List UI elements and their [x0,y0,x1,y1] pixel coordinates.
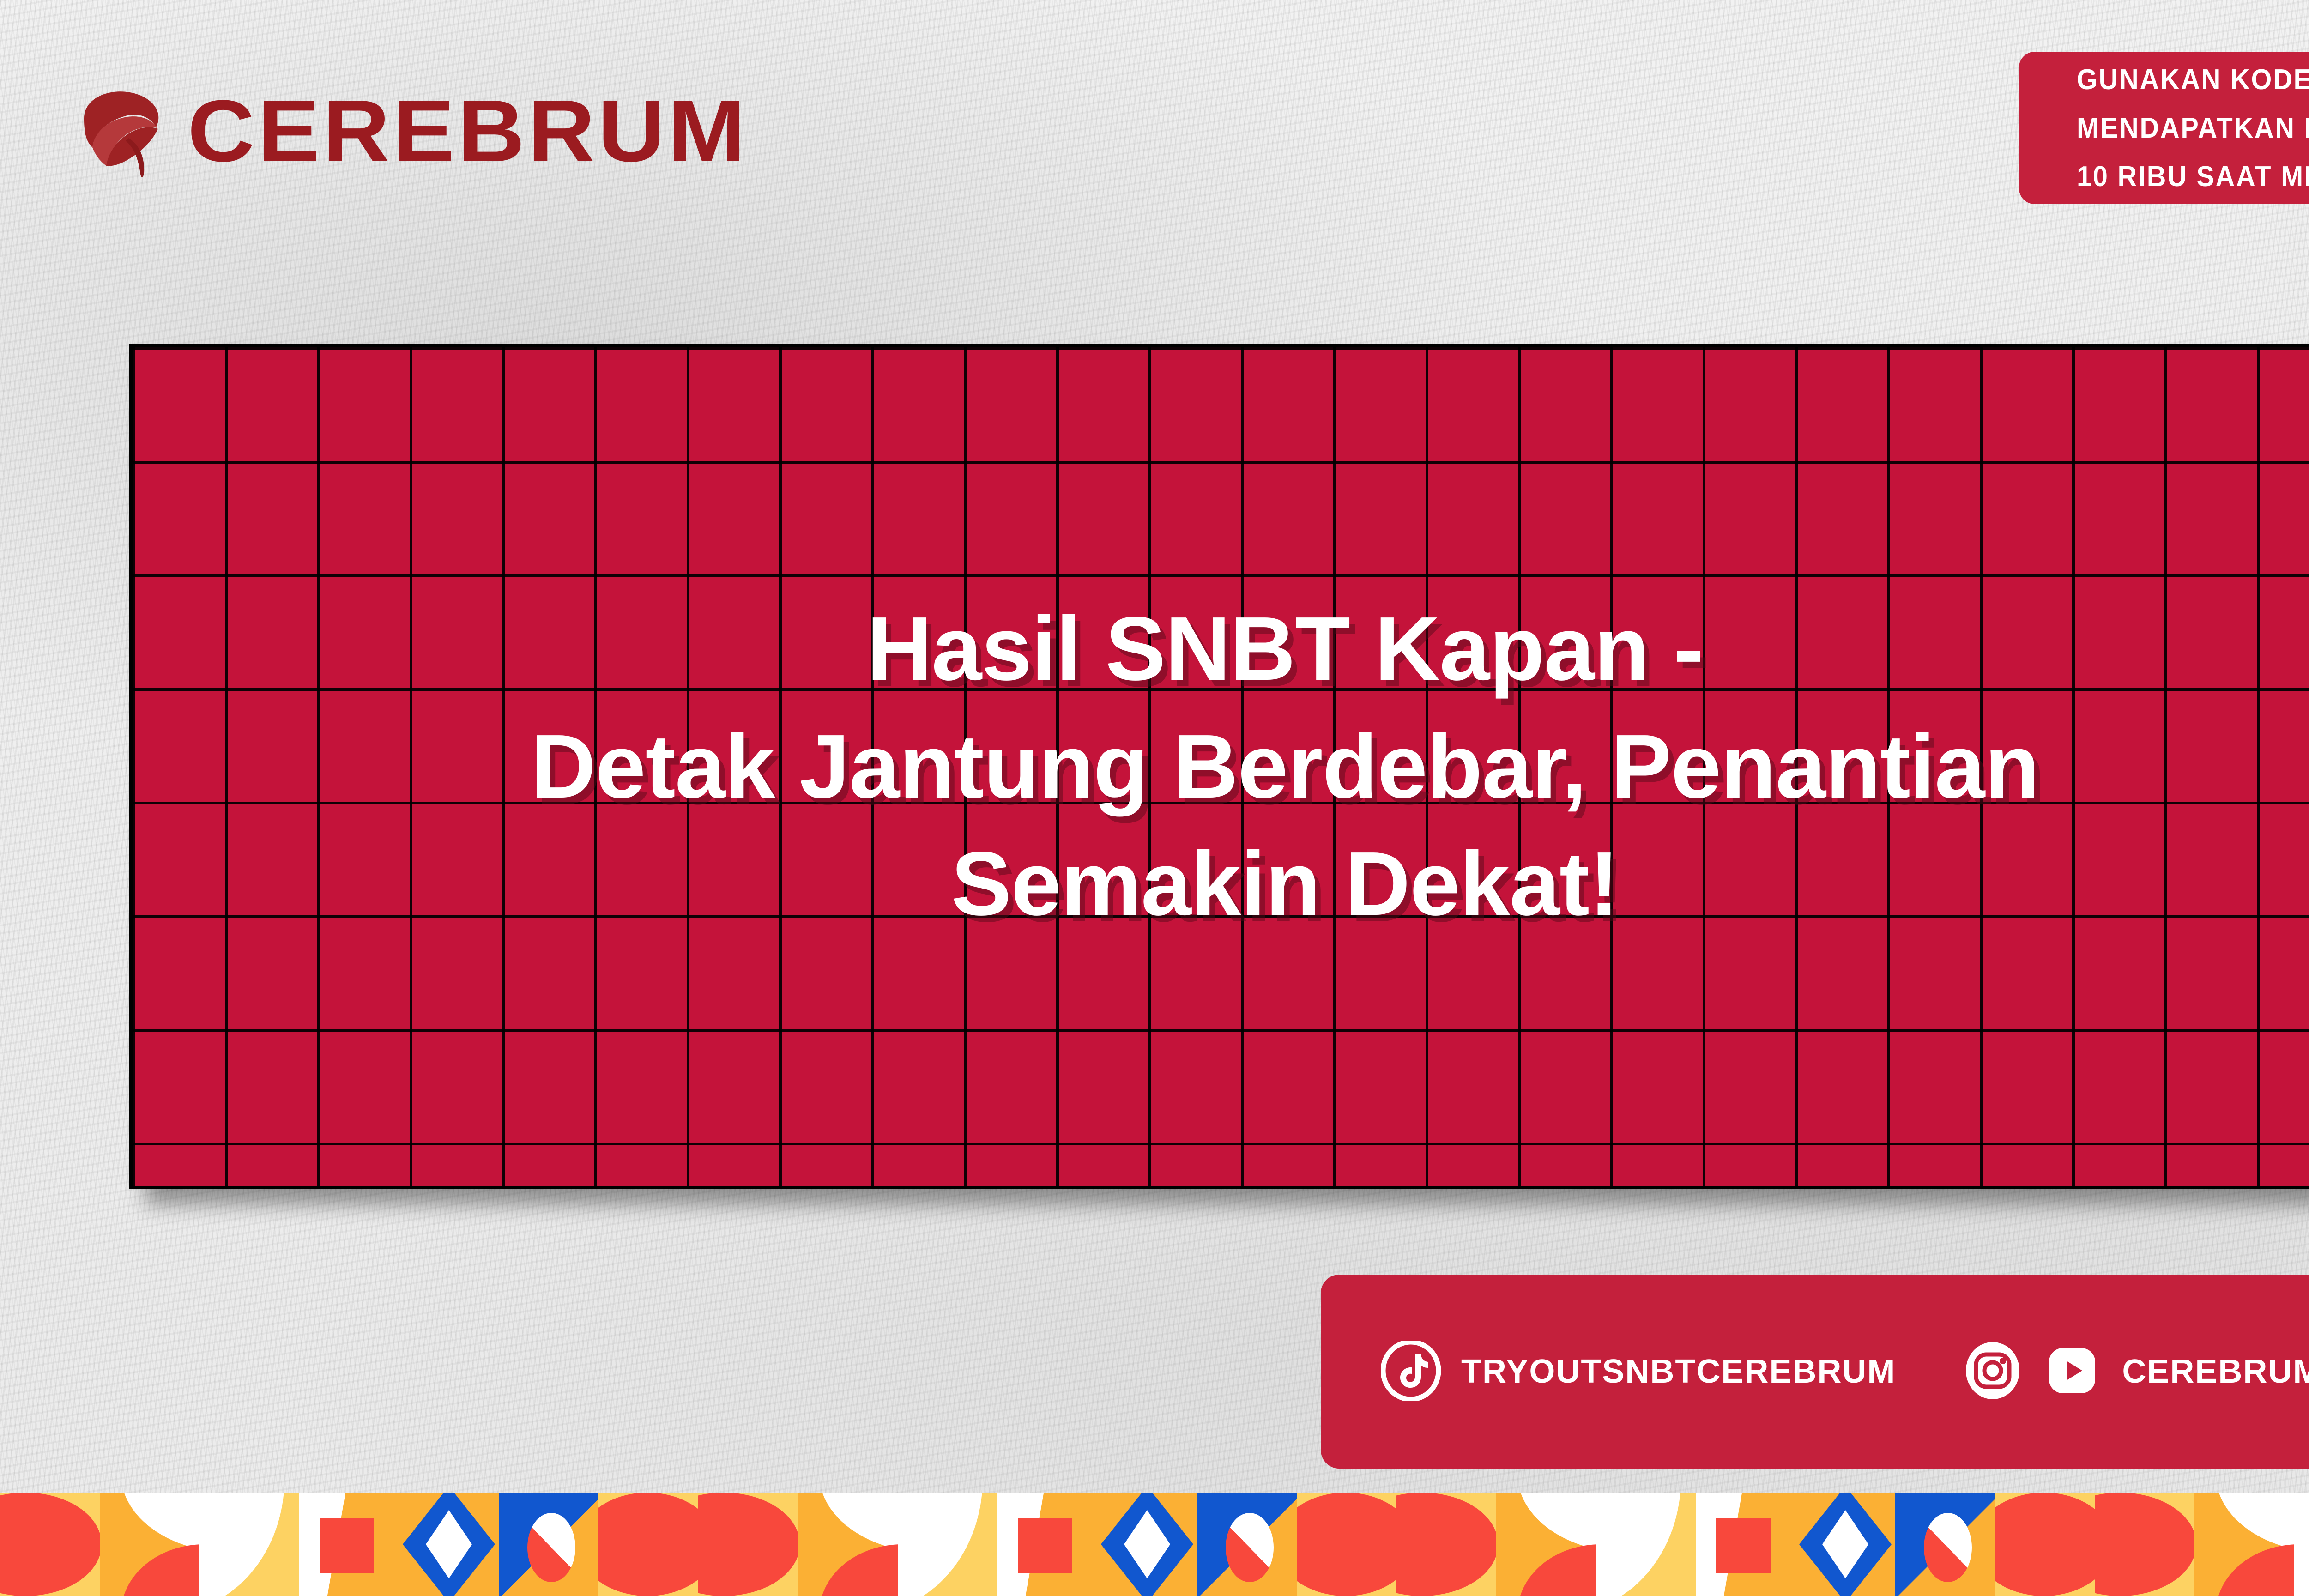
pattern-tile [1396,1493,1496,1596]
pattern-tile [1895,1493,1995,1596]
pattern-tile [2095,1493,2194,1596]
pattern-tile [1097,1493,1197,1596]
promo-line-2: MENDAPATKAN POTONGAN MULAI [2077,112,2309,145]
pattern-tile [0,1493,100,1596]
pattern-tile [499,1493,598,1596]
pattern-tile [997,1493,1097,1596]
promo-line-3: 10 RIBU SAAT MEMBELI PAKET [2077,160,2309,193]
pattern-tile [1496,1493,1596,1596]
promo-text: GUNAKAN KODE PROMO INI UNTUK MENDAPATKAN… [2019,63,2309,193]
promo-line-1: GUNAKAN KODE PROMO INI UNTUK [2077,63,2309,96]
cerebrum-brain-swoosh-logo [74,83,166,180]
pattern-tile [399,1493,499,1596]
pattern-tile [898,1493,997,1596]
pattern-tile [1596,1493,1696,1596]
pattern-tile [1795,1493,1895,1596]
brand-logo[interactable]: CEREBRUM [74,81,717,181]
headline-line-3: Semakin Dekat! [951,827,1619,941]
headline-text: Hasil SNBT Kapan - Detak Jantung Berdeba… [133,347,2309,1186]
decorative-pattern-strip [0,1493,2309,1596]
pattern-tile [100,1493,199,1596]
tiktok-icon[interactable] [1381,1341,1441,1403]
youtube-icon[interactable] [2043,1341,2102,1403]
pattern-tile [1696,1493,1795,1596]
brand-wordmark: CEREBRUM [187,81,749,181]
headline-panel: Hasil SNBT Kapan - Detak Jantung Berdeba… [129,344,2309,1189]
instagram-icon[interactable] [1963,1341,2022,1403]
tiktok-handle: TRYOUTSNBTCEREBRUM [1461,1353,1896,1390]
pattern-tile [199,1493,299,1596]
headline-line-2: Detak Jantung Berdebar, Penantian [531,710,2039,824]
pattern-tile [698,1493,798,1596]
pattern-tile [598,1493,698,1596]
pattern-tile [2294,1493,2309,1596]
pattern-tile [2194,1493,2294,1596]
pattern-tile [798,1493,898,1596]
headline-line-1: Hasil SNBT Kapan - [867,592,1704,706]
pattern-tile [1297,1493,1396,1596]
promo-banner: GUNAKAN KODE PROMO INI UNTUK MENDAPATKAN… [2019,52,2309,204]
social-bar: TRYOUTSNBTCEREBRUM CEREBRUM.ID [1321,1275,2309,1469]
pattern-tile [299,1493,399,1596]
pattern-tile [1995,1493,2095,1596]
cerebrum-handle: CEREBRUM.ID [2122,1353,2309,1390]
pattern-tile [1197,1493,1297,1596]
